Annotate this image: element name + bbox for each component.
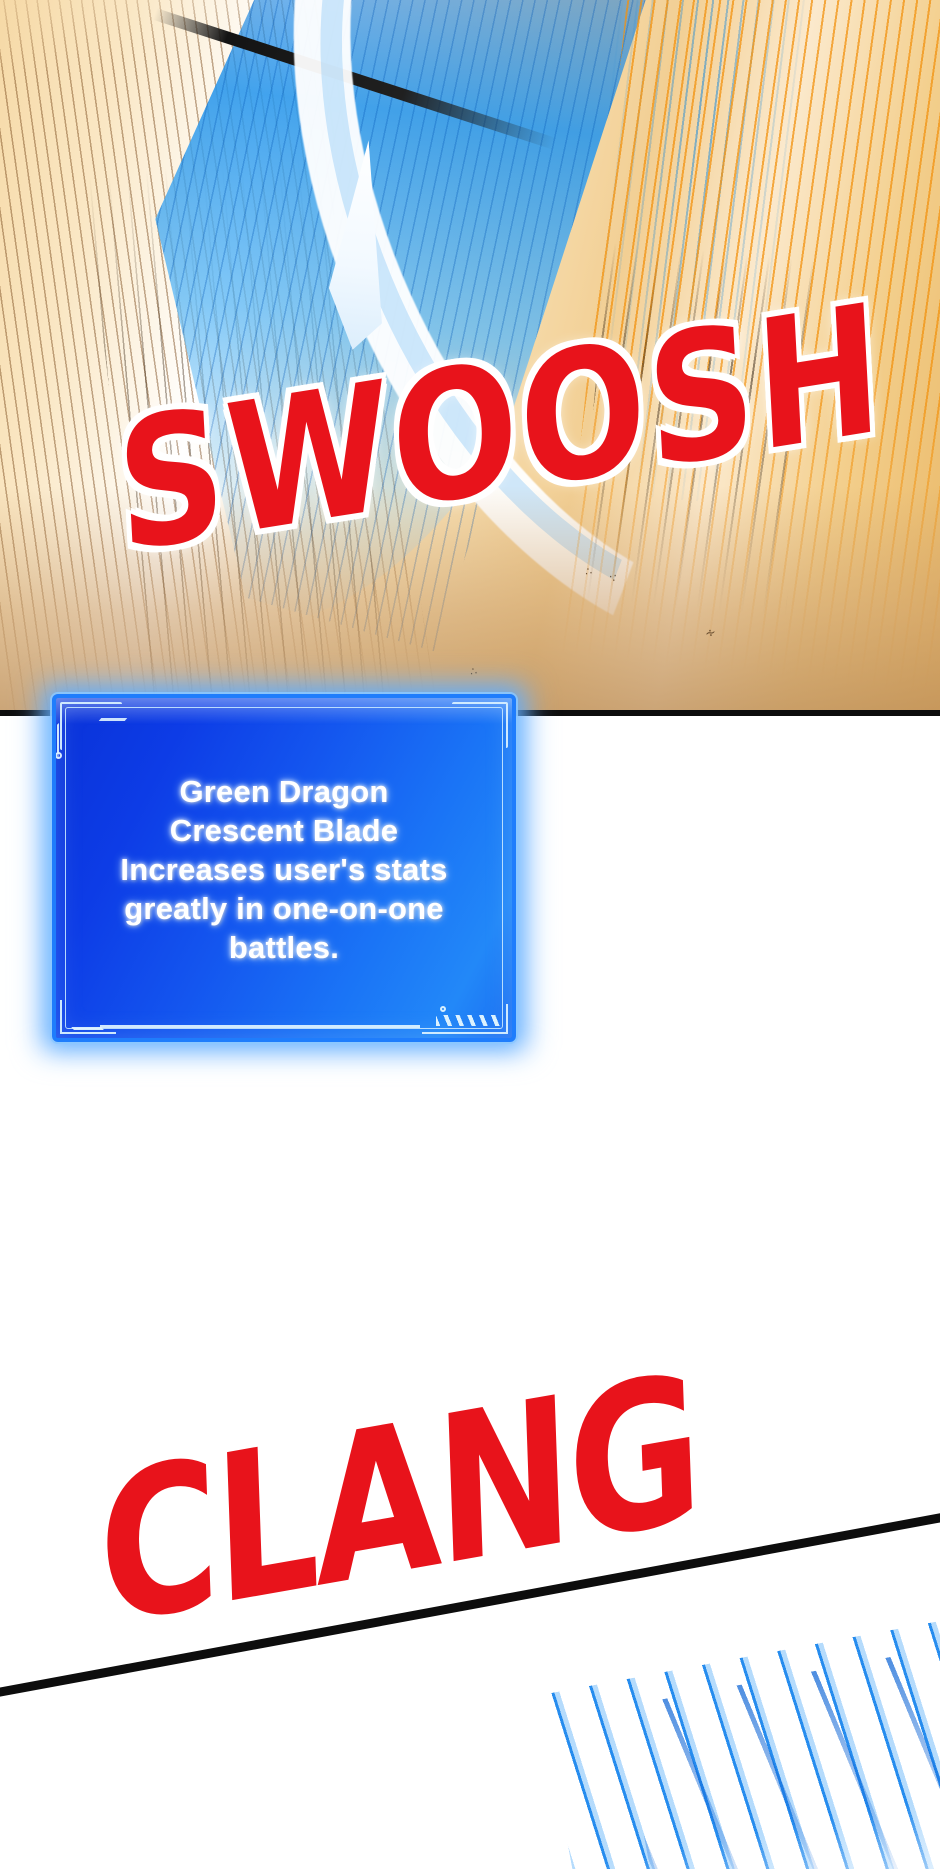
skill-line-3: Increases user's stats [82, 850, 486, 889]
skill-box-frame: Green Dragon Crescent Blade Increases us… [52, 694, 516, 1042]
webtoon-page: ∴ ∵ ∻ ∴ SWOOSH Green Dragon Crescent B [0, 0, 940, 1869]
skill-description-text: Green Dragon Crescent Blade Increases us… [56, 772, 512, 967]
skill-line-4: greatly in one-on-one [82, 889, 486, 928]
corner-dot-bottom-right-icon [440, 1006, 446, 1012]
action-panel: ∴ ∵ ∻ ∴ [0, 0, 940, 716]
corner-hatch-bottom-right [436, 1015, 502, 1026]
skill-info-box: Green Dragon Crescent Blade Increases us… [38, 682, 530, 1054]
corner-dot-top-left-icon [55, 752, 62, 759]
corner-ornament-top-right [452, 702, 508, 748]
clang-panel [0, 1395, 940, 1869]
skill-box-bottom-rail [100, 1025, 420, 1028]
corner-dash-top-left [99, 718, 128, 721]
skill-line-2: Crescent Blade [82, 811, 486, 850]
skill-line-1: Green Dragon [82, 772, 486, 811]
skill-line-5: battles. [82, 928, 486, 967]
